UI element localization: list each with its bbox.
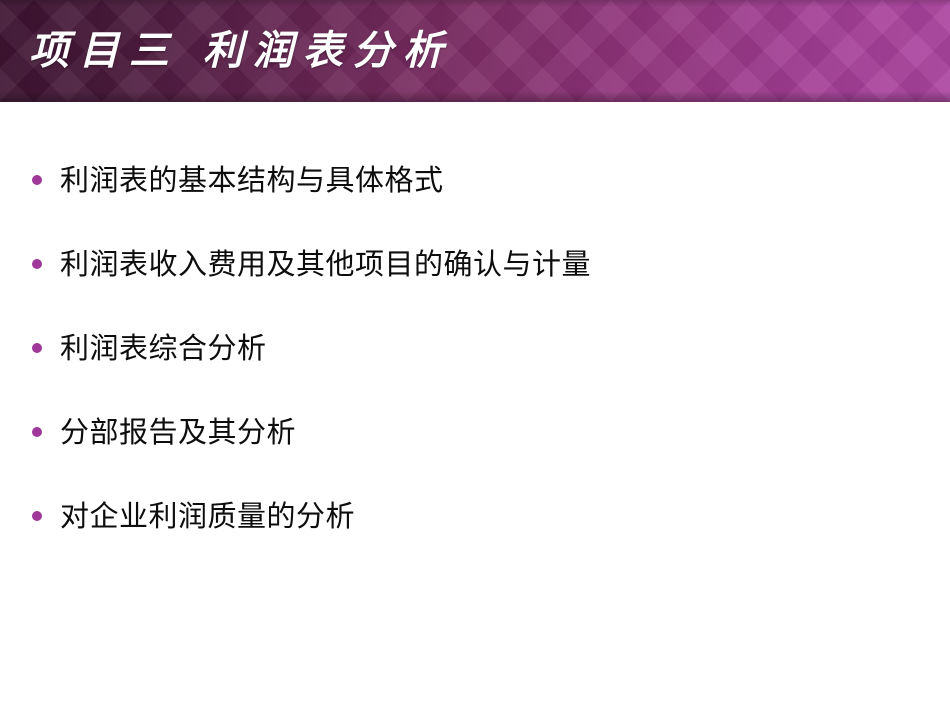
list-item[interactable]: 利润表综合分析 <box>0 306 950 390</box>
list-item-label: 利润表综合分析 <box>60 331 267 365</box>
bullet-dot-icon <box>32 427 42 437</box>
presentation-slide: 项目三 利润表分析 利润表的基本结构与具体格式 利润表收入费用及其他项目的确认与… <box>0 0 950 713</box>
bullet-dot-icon <box>32 343 42 353</box>
list-item[interactable]: 分部报告及其分析 <box>0 390 950 474</box>
banner-top-shade <box>0 0 950 7</box>
title-banner: 项目三 利润表分析 <box>0 0 950 102</box>
list-item[interactable]: 对企业利润质量的分析 <box>0 474 950 558</box>
list-item-label: 利润表的基本结构与具体格式 <box>60 163 444 197</box>
list-item[interactable]: 利润表的基本结构与具体格式 <box>0 138 950 222</box>
list-item-label: 对企业利润质量的分析 <box>60 499 355 533</box>
bullet-dot-icon <box>32 511 42 521</box>
slide-title: 项目三 利润表分析 <box>29 27 453 75</box>
bullet-dot-icon <box>32 259 42 269</box>
bullet-dot-icon <box>32 175 42 185</box>
list-item-label: 利润表收入费用及其他项目的确认与计量 <box>60 247 591 281</box>
banner-bottom-shade <box>0 91 950 102</box>
list-item-label: 分部报告及其分析 <box>60 415 296 449</box>
agenda-bullet-list: 利润表的基本结构与具体格式 利润表收入费用及其他项目的确认与计量 利润表综合分析… <box>0 102 950 558</box>
list-item[interactable]: 利润表收入费用及其他项目的确认与计量 <box>0 222 950 306</box>
